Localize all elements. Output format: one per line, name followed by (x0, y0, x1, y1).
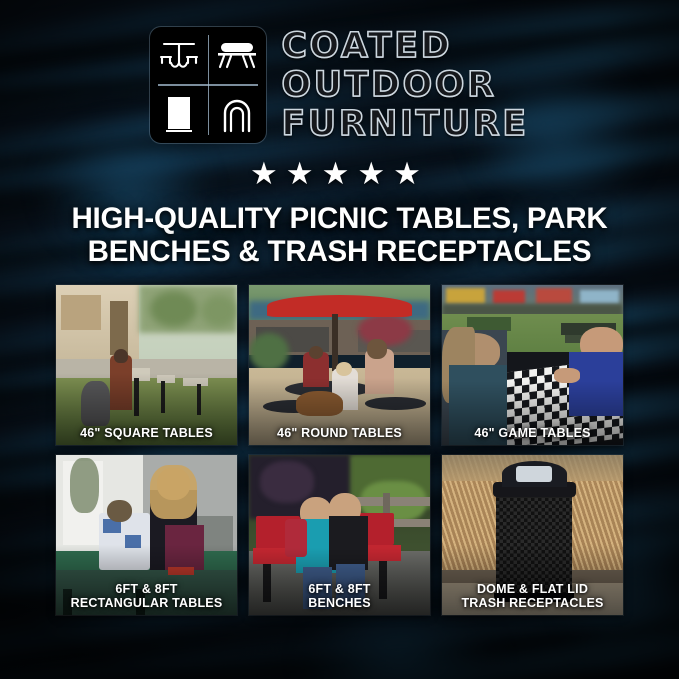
logo-icon-grid (150, 27, 266, 143)
caption-line: BENCHES (252, 597, 427, 611)
headline-line-1: HIGH-QUALITY PICNIC TABLES, PARK (26, 202, 653, 235)
product-grid: 46" SQUARE TABLES (56, 285, 623, 615)
caption-line: 46" GAME TABLES (445, 427, 620, 441)
caption-line: RECTANGULAR TABLES (59, 597, 234, 611)
product-tile-benches[interactable]: 6FT & 8FT BENCHES (249, 455, 430, 615)
product-caption-trash-receptacles: DOME & FLAT LID TRASH RECEPTACLES (442, 583, 623, 610)
page-headline: HIGH-QUALITY PICNIC TABLES, PARK BENCHES… (0, 202, 679, 268)
product-tile-square-tables[interactable]: 46" SQUARE TABLES (56, 285, 237, 445)
caption-line: 46" ROUND TABLES (252, 427, 427, 441)
brand-logo: COATED OUTDOOR FURNITURE (0, 27, 679, 143)
product-caption-game-tables: 46" GAME TABLES (442, 427, 623, 441)
rating-stars: ★★★★★ (0, 158, 679, 189)
headline-line-2: BENCHES & TRASH RECEPTACLES (26, 235, 653, 268)
caption-line: 46" SQUARE TABLES (59, 427, 234, 441)
product-caption-benches: 6FT & 8FT BENCHES (249, 583, 430, 610)
product-caption-square-tables: 46" SQUARE TABLES (56, 427, 237, 441)
product-photo-square-tables (56, 285, 237, 445)
caption-line: DOME & FLAT LID (445, 583, 620, 597)
product-tile-game-tables[interactable]: 46" GAME TABLES (442, 285, 623, 445)
product-photo-round-tables (249, 285, 430, 445)
product-tile-rectangular-tables[interactable]: 6FT & 8FT RECTANGULAR TABLES (56, 455, 237, 615)
caption-line: 6FT & 8FT (59, 583, 234, 597)
caption-line: TRASH RECEPTACLES (445, 597, 620, 611)
product-tile-round-tables[interactable]: 46" ROUND TABLES (249, 285, 430, 445)
brand-name-line-2: OUTDOOR (281, 67, 528, 104)
trash-receptacle-icon (150, 85, 208, 143)
product-photo-game-tables (442, 285, 623, 445)
picnic-table-icon (150, 27, 208, 85)
product-caption-rectangular-tables: 6FT & 8FT RECTANGULAR TABLES (56, 583, 237, 610)
brand-name: COATED OUTDOOR FURNITURE (281, 27, 528, 143)
bench-icon (208, 27, 266, 85)
product-caption-round-tables: 46" ROUND TABLES (249, 427, 430, 441)
brand-name-line-3: FURNITURE (281, 106, 528, 143)
brand-name-line-1: COATED (281, 28, 528, 65)
caption-line: 6FT & 8FT (252, 583, 427, 597)
bike-rack-icon (208, 85, 266, 143)
product-tile-trash-receptacles[interactable]: DOME & FLAT LID TRASH RECEPTACLES (442, 455, 623, 615)
